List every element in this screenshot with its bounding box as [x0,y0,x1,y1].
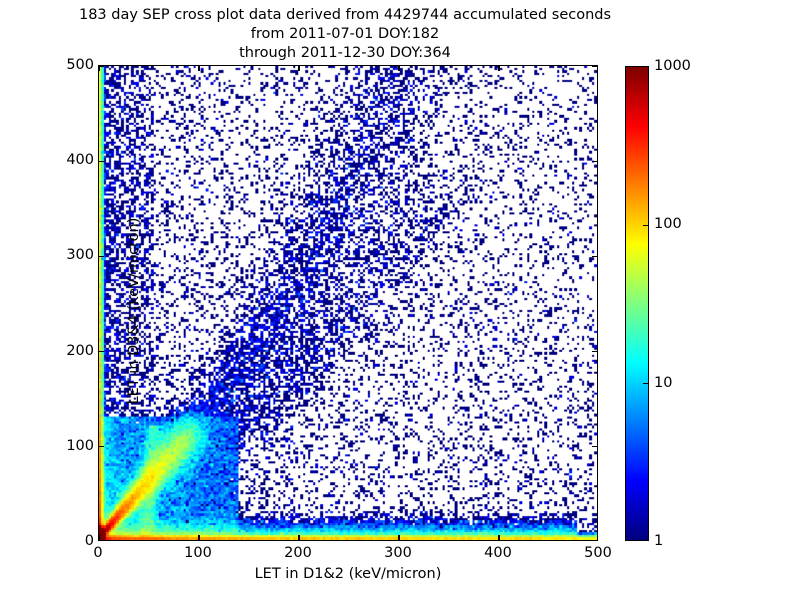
title-line-1: 183 day SEP cross plot data derived from… [0,6,690,25]
y-tick-label: 500 [66,57,94,73]
x-tick-mark-top [498,66,499,71]
colorbar-tick-mark [643,383,648,384]
x-axis-label: LET in D1&2 (keV/micron) [98,566,598,582]
x-tick-label: 200 [284,545,312,561]
y-tick-label: 100 [66,438,94,454]
x-tick-label: 300 [384,545,412,561]
colorbar-gradient [626,67,648,540]
x-tick-mark [198,535,199,540]
x-tick-mark-top [98,66,99,71]
y-tick-mark [99,256,104,257]
x-tick-mark-top [298,66,299,71]
colorbar-tick-label: 10 [654,375,672,391]
figure-canvas: 183 day SEP cross plot data derived from… [0,0,800,600]
x-tick-label: 100 [184,545,212,561]
x-tick-mark [498,535,499,540]
title-line-3: through 2011-12-30 DOY:364 [0,44,690,63]
y-tick-mark-right [592,65,597,66]
y-tick-mark-right [592,446,597,447]
plot-title: 183 day SEP cross plot data derived from… [0,6,690,63]
colorbar-tick-mark [643,225,648,226]
y-tick-label: 300 [66,247,94,263]
colorbar-tick-label: 1 [654,533,663,549]
plot-axes[interactable] [98,65,598,541]
y-tick-mark [99,351,104,352]
y-tick-label: 400 [66,152,94,168]
y-tick-mark [99,65,104,66]
colorbar-tick-label: 1000 [654,58,691,74]
y-tick-mark-right [592,161,597,162]
x-tick-label: 500 [584,545,612,561]
x-tick-label: 400 [484,545,512,561]
y-axis-label: LET in D3&4 (keV/micron) [126,73,142,549]
scatter-heatmap-canvas [99,66,597,540]
x-tick-label: 0 [93,545,102,561]
x-tick-mark [398,535,399,540]
y-tick-mark [99,446,104,447]
colorbar-tick-label: 100 [654,216,682,232]
x-tick-mark-top [398,66,399,71]
title-line-2: from 2011-07-01 DOY:182 [0,25,690,44]
x-tick-mark [98,535,99,540]
colorbar-axes[interactable] [625,66,649,541]
x-tick-mark [298,535,299,540]
y-tick-mark-right [592,256,597,257]
y-tick-mark [99,161,104,162]
y-tick-mark-right [592,351,597,352]
y-tick-label: 200 [66,343,94,359]
y-tick-label: 0 [85,533,94,549]
x-tick-mark-top [198,66,199,71]
